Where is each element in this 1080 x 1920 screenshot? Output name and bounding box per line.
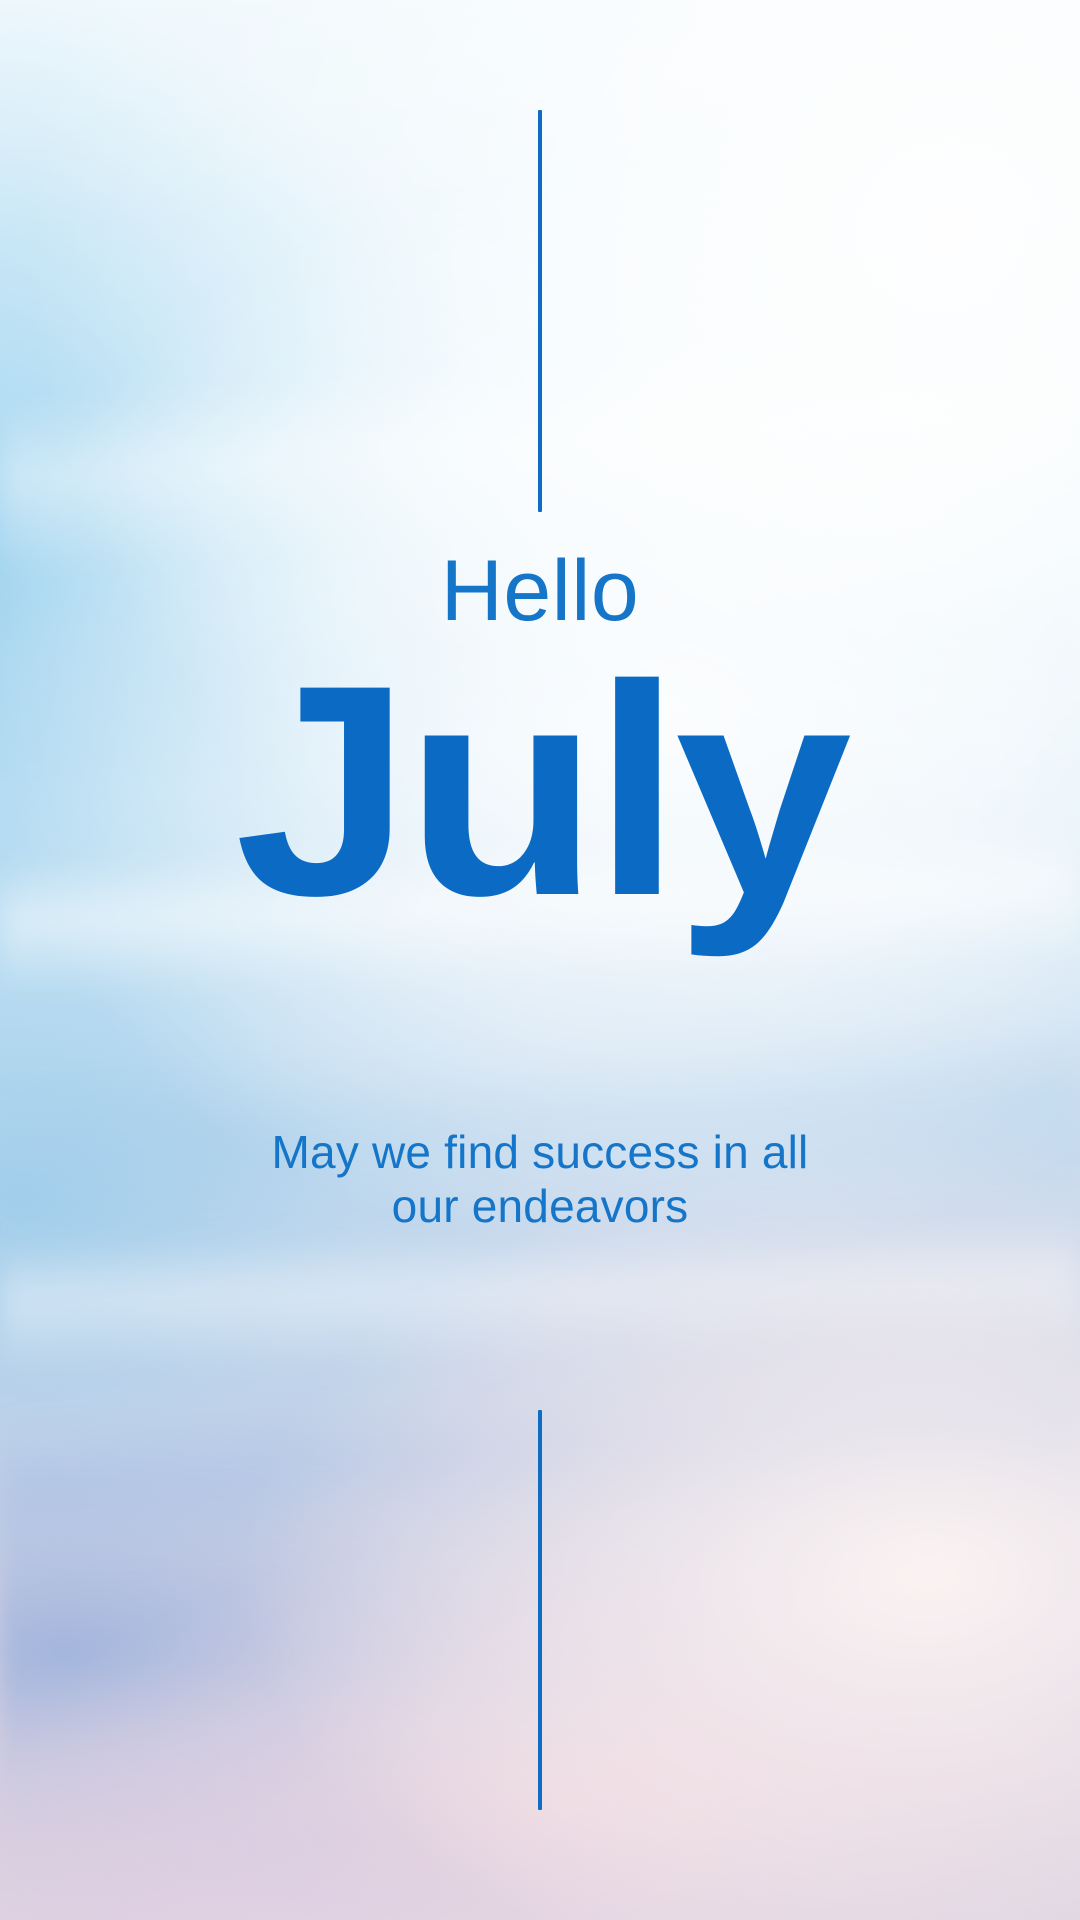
hello-july-poster: Hello July May we find success in all ou… <box>0 0 1080 1920</box>
poster-content: Hello July May we find success in all ou… <box>0 0 1080 1920</box>
subtitle-line-1: May we find success in all <box>180 1125 900 1179</box>
subtitle-block: May we find success in all our endeavors <box>180 1125 900 1234</box>
bottom-vertical-rule <box>538 1410 542 1810</box>
top-vertical-rule <box>538 110 542 512</box>
month-title: July <box>0 640 1080 940</box>
subtitle-line-2: our endeavors <box>180 1179 900 1233</box>
